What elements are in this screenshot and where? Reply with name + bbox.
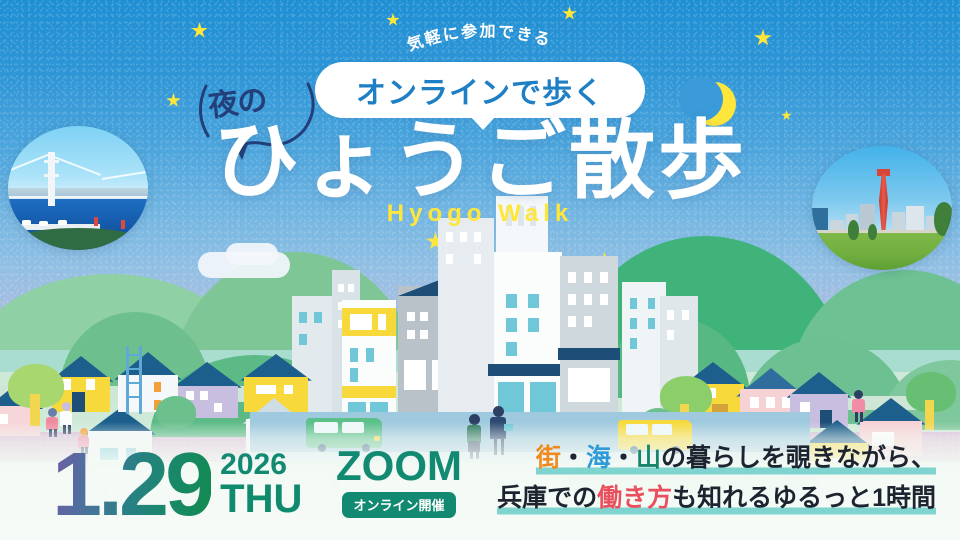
- event-year-day: 2026 THU: [220, 450, 302, 518]
- arc-tagline: 気軽に参加できる: [380, 22, 580, 66]
- event-poster: 気軽に参加できる オンラインで歩く 夜の ひょうご散歩 Hyogo Walk: [0, 0, 960, 540]
- arc-tagline-text: 気軽に参加できる: [404, 21, 553, 54]
- yoru-label: 夜の: [206, 75, 269, 126]
- ladder: [126, 346, 142, 414]
- catchphrase: 街・海・山の暮らしを覗きながら、 兵庫での働き方も知れるゆるっと1時間: [497, 440, 936, 517]
- event-day-of-week: THU: [220, 480, 302, 518]
- platform-name: ZOOM: [336, 445, 462, 487]
- page-title: ひょうご散歩: [0, 118, 960, 204]
- page-subtitle: Hyogo Walk: [0, 200, 960, 228]
- pedestrian: [852, 390, 867, 424]
- event-date: 1.29: [52, 447, 211, 524]
- building-shop: [494, 252, 562, 420]
- online-badge: オンライン開催: [342, 492, 455, 518]
- building-tall: [438, 218, 494, 418]
- catchphrase-line-1: 街・海・山の暮らしを覗きながら、: [536, 440, 936, 476]
- building-yellow: [342, 300, 396, 420]
- catchphrase-line-2: 兵庫での働き方も知れるゆるっと1時間: [497, 480, 936, 516]
- event-year: 2026: [220, 450, 302, 480]
- event-date-block: 1.29 2026 THU: [52, 447, 302, 524]
- building: [560, 256, 618, 420]
- cloud: [226, 243, 278, 265]
- online-walk-pill: オンラインで歩く: [315, 62, 645, 118]
- platform-block: ZOOM オンライン開催: [336, 445, 462, 518]
- svg-text:気軽に参加できる: 気軽に参加できる: [404, 21, 553, 54]
- pill-label: オンラインで歩く: [356, 68, 604, 112]
